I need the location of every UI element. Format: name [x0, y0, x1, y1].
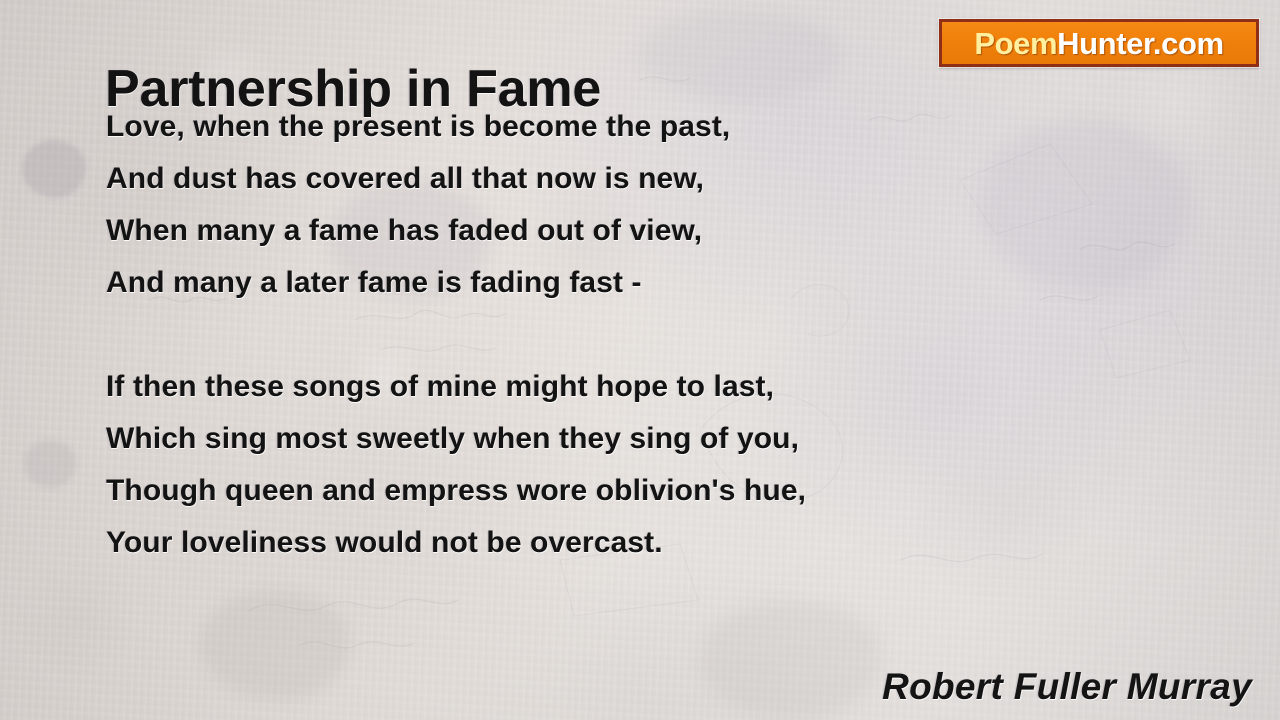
poem-line: If then these songs of mine might hope t… — [106, 368, 926, 420]
poem-text-body: Love, when the present is become the pas… — [106, 108, 926, 576]
poemhunter-logo[interactable]: PoemHunter.com — [939, 19, 1259, 67]
logo-text-hunter: Hunter.com — [1057, 26, 1224, 61]
poem-author: Robert Fuller Murray — [882, 666, 1252, 708]
slide-content: Partnership in Fame Love, when the prese… — [0, 0, 1280, 720]
poem-slide: Partnership in Fame Love, when the prese… — [0, 0, 1280, 720]
poem-line: And dust has covered all that now is new… — [106, 160, 926, 212]
poem-stanza-break — [106, 316, 926, 368]
poem-line: Your loveliness would not be overcast. — [106, 524, 926, 576]
poem-line: When many a fame has faded out of view, — [106, 212, 926, 264]
poem-line: Love, when the present is become the pas… — [106, 108, 926, 160]
logo-text-poem: Poem — [974, 26, 1057, 61]
poem-line: Which sing most sweetly when they sing o… — [106, 420, 926, 472]
poem-line: Though queen and empress wore oblivion's… — [106, 472, 926, 524]
poem-line: And many a later fame is fading fast - — [106, 264, 926, 316]
poemhunter-logo-text: PoemHunter.com — [974, 28, 1223, 59]
